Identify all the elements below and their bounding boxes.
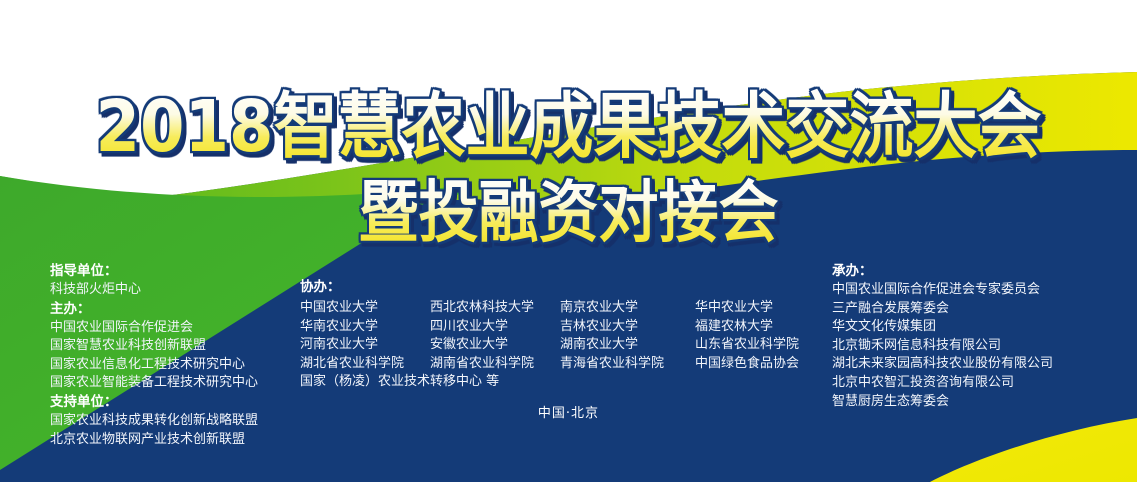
coorganizer-heading: 协办： — [300, 278, 820, 297]
conference-banner: 2018智慧农业成果技术交流大会 暨投融资对接会 指导单位： 科技部火炬中心 主… — [0, 0, 1137, 482]
coorganizer-item: 中国农业大学 — [300, 299, 430, 318]
organizer-item: 国家农业智能装备工程技术研究中心 — [50, 374, 300, 393]
guide-heading: 指导单位： — [50, 262, 300, 281]
coorganizer-item: 华南农业大学 — [300, 318, 430, 337]
credits-column-left: 指导单位： 科技部火炬中心 主办： 中国农业国际合作促进会 国家智慧农业科技创新… — [50, 262, 300, 449]
host-heading: 承办： — [832, 262, 1132, 281]
organizer-item: 国家智慧农业科技创新联盟 — [50, 337, 300, 356]
coorganizer-item: 福建农林大学 — [695, 318, 820, 337]
organizer-heading: 主办： — [50, 300, 300, 319]
host-item: 北京中农智汇投资咨询有限公司 — [832, 374, 1132, 393]
coorganizer-item: 安徽农业大学 — [430, 336, 560, 355]
host-item: 北京锄禾网信息科技有限公司 — [832, 337, 1132, 356]
coorganizer-item: 河南农业大学 — [300, 336, 430, 355]
guide-item: 科技部火炬中心 — [50, 281, 300, 300]
host-item: 湖北未来家园高科技农业股份有限公司 — [832, 355, 1132, 374]
organizer-item: 国家农业信息化工程技术研究中心 — [50, 356, 300, 375]
credits-column-middle: 协办： 中国农业大学 西北农林科技大学 南京农业大学 华中农业大学 华南农业大学… — [300, 278, 820, 392]
organizer-item: 中国农业国际合作促进会 — [50, 319, 300, 338]
coorganizer-item: 华中农业大学 — [695, 299, 820, 318]
coorganizer-item: 山东省农业科学院 — [695, 336, 820, 355]
support-item: 北京农业物联网产业技术创新联盟 — [50, 431, 300, 450]
credits-column-right: 承办： 中国农业国际合作促进会专家委员会 三产融合发展筹委会 华文文化传媒集团 … — [832, 262, 1132, 411]
coorganizer-item: 湖北省农业科学院 — [300, 355, 430, 374]
host-item: 中国农业国际合作促进会专家委员会 — [832, 281, 1132, 300]
coorganizer-item: 四川农业大学 — [430, 318, 560, 337]
location-label: 中国·北京 — [0, 402, 1137, 421]
coorganizer-grid: 中国农业大学 西北农林科技大学 南京农业大学 华中农业大学 华南农业大学 四川农… — [300, 299, 820, 373]
coorganizer-item: 湖南农业大学 — [560, 336, 695, 355]
coorganizer-item: 西北农林科技大学 — [430, 299, 560, 318]
credits-area: 指导单位： 科技部火炬中心 主办： 中国农业国际合作促进会 国家智慧农业科技创新… — [0, 262, 1137, 462]
coorganizer-tail: 国家（杨凌）农业技术转移中心 等 — [300, 373, 820, 392]
coorganizer-item: 吉林农业大学 — [560, 318, 695, 337]
coorganizer-item: 青海省农业科学院 — [560, 355, 695, 374]
coorganizer-item: 中国绿色食品协会 — [695, 355, 820, 374]
host-item: 华文文化传媒集团 — [832, 318, 1132, 337]
coorganizer-item: 湖南省农业科学院 — [430, 355, 560, 374]
host-item: 三产融合发展筹委会 — [832, 300, 1132, 319]
coorganizer-item: 南京农业大学 — [560, 299, 695, 318]
